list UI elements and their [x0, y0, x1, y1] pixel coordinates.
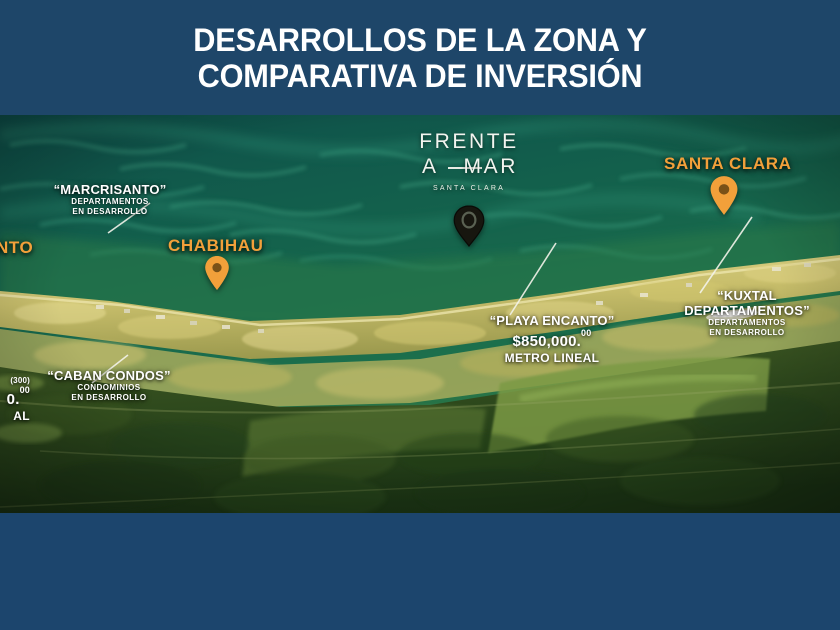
- development-sub1-caban-condos: CONDOMINIOS: [24, 383, 194, 393]
- footer-banner: [0, 513, 840, 630]
- map-pin-icon-chabihau[interactable]: [204, 255, 230, 291]
- page-title: DESARROLLOS DE LA ZONA Y COMPARATIVA DE …: [17, 22, 823, 94]
- price-amount-playa-encanto: $850,000.00: [472, 328, 632, 351]
- page-title-line-1: DESARROLLOS DE LA ZONA Y: [17, 22, 823, 58]
- price-label-cut-left[interactable]: (300) 0.00 AL: [0, 376, 30, 423]
- header-banner: DESARROLLOS DE LA ZONA Y COMPARATIVA DE …: [0, 0, 840, 115]
- development-sub1-marcrisanto: DEPARTAMENTOS: [12, 197, 208, 207]
- development-sub2-caban-condos: EN DESARROLLO: [24, 393, 194, 403]
- price-unit-cut-left: AL: [0, 409, 30, 423]
- brand-word-mar: MAR: [464, 154, 518, 180]
- price-amount-main-cut: 0.: [7, 391, 20, 408]
- development-name-caban-condos: “CABAN CONDOS”: [24, 368, 194, 383]
- map-pin-outline-icon: [452, 204, 486, 248]
- brand-logo-frente-a-mar: FRENTE A MAR SANTA CLARA: [404, 130, 534, 192]
- development-sub1-kuxtal: DEPARTAMENTOS: [654, 318, 840, 328]
- development-label-marcrisanto[interactable]: “MARCRISANTO” DEPARTAMENTOS EN DESARROLL…: [12, 182, 208, 216]
- price-name-playa-encanto: “PLAYA ENCANTO”: [472, 313, 632, 328]
- price-unit-playa-encanto: METRO LINEAL: [472, 351, 632, 365]
- map-pin-icon-santa-clara[interactable]: [709, 175, 739, 216]
- town-label-cut-left[interactable]: NTO: [0, 238, 33, 258]
- development-name-marcrisanto: “MARCRISANTO”: [12, 182, 208, 197]
- brand-word-a: A: [422, 154, 439, 180]
- development-sub2-kuxtal: EN DESARROLLO: [654, 328, 840, 338]
- slide-root: DESARROLLOS DE LA ZONA Y COMPARATIVA DE …: [0, 0, 840, 630]
- page-title-line-2: COMPARATIVA DE INVERSIÓN: [17, 58, 823, 94]
- development-label-caban-condos[interactable]: “CABAN CONDOS” CONDOMINIOS EN DESARROLLO: [24, 368, 194, 402]
- development-name-line2-kuxtal: DEPARTAMENTOS”: [654, 303, 840, 318]
- brand-subtitle: SANTA CLARA: [404, 185, 534, 192]
- development-label-kuxtal[interactable]: “KUXTAL DEPARTAMENTOS” DEPARTAMENTOS EN …: [654, 288, 840, 337]
- brand-line-1: FRENTE: [404, 130, 534, 154]
- town-label-santa-clara[interactable]: SANTA CLARA: [664, 154, 791, 174]
- development-sub2-marcrisanto: EN DESARROLLO: [12, 207, 208, 217]
- price-amount-cents-cut: 00: [20, 385, 30, 395]
- price-amount-cut-left: 0.00: [0, 386, 30, 409]
- development-name-line1-kuxtal: “KUXTAL: [654, 288, 840, 303]
- brand-line-2: A MAR: [404, 154, 534, 180]
- price-amount-main: $850,000.: [513, 333, 582, 350]
- price-amount-cents: 00: [581, 328, 591, 338]
- price-label-playa-encanto[interactable]: “PLAYA ENCANTO” $850,000.00 METRO LINEAL: [472, 313, 632, 365]
- town-label-chabihau[interactable]: CHABIHAU: [168, 236, 263, 256]
